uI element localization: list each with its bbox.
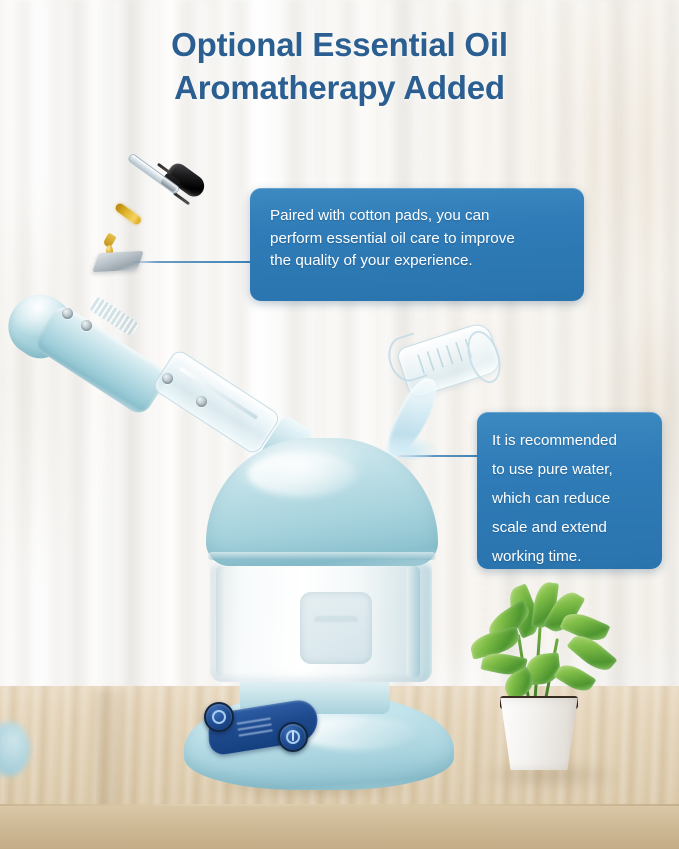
callout-text-line: to use pure water, (492, 455, 650, 484)
product-feature-image: Optional Essential Oil Aromatherapy Adde… (0, 0, 679, 849)
facial-steamer-device (178, 430, 468, 790)
page-title-line-1: Optional Essential Oil (0, 24, 679, 67)
callout-text-line: the quality of your experience. (270, 250, 568, 273)
callout-text-line: Paired with cotton pads, you can (270, 205, 568, 228)
callout-text-line: perform essential oil care to improve (270, 228, 568, 251)
power-bar-icon (292, 730, 294, 741)
nozzle-body (32, 302, 171, 418)
lid-gloss (248, 452, 356, 496)
power-ring-icon (212, 710, 226, 724)
glass-dropper (96, 156, 226, 268)
power-button[interactable] (204, 702, 234, 732)
callout-text-line: which can reduce (492, 484, 650, 513)
tank-ridge-right (406, 566, 420, 678)
plant-pot (496, 698, 582, 770)
callout-essential-oil: Paired with cotton pads, you can perform… (250, 188, 584, 301)
tank-level-marks (314, 616, 358, 654)
table-front-face (0, 806, 679, 849)
screw-icon (62, 308, 73, 319)
callout-text-line: working time. (492, 542, 650, 571)
screw-icon (81, 320, 92, 331)
callout-text-line: scale and extend (492, 513, 650, 542)
essential-oil-fluid (114, 202, 143, 226)
callout-text-line: It is recommended (492, 426, 650, 455)
screw-icon (196, 396, 207, 407)
callout-pure-water: It is recommended to use pure water, whi… (477, 412, 662, 569)
screw-icon (162, 373, 173, 384)
mode-button[interactable] (278, 722, 308, 752)
page-title-line-2: Aromatherapy Added (0, 67, 679, 110)
potted-plant (452, 580, 632, 780)
lid-seam (208, 552, 436, 560)
page-title: Optional Essential Oil Aromatherapy Adde… (0, 24, 679, 110)
tank-ridge-left (216, 566, 226, 676)
table-corner-shade (96, 690, 136, 820)
